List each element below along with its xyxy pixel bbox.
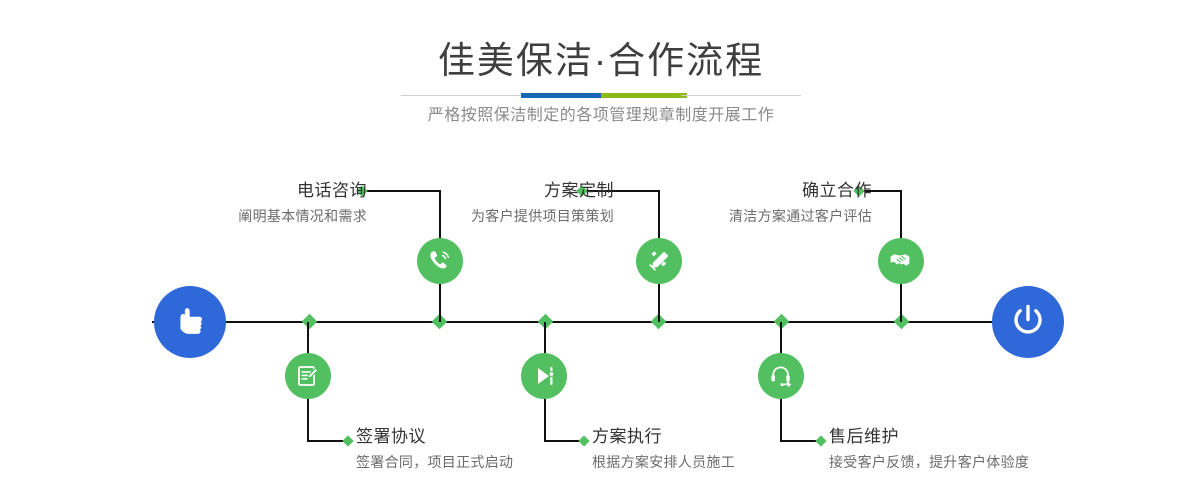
- step-4-icon-badge[interactable]: [521, 353, 567, 399]
- step-5-icon-badge[interactable]: [878, 238, 924, 284]
- power-icon: [1007, 299, 1049, 346]
- page-title: 佳美保洁·合作流程: [0, 38, 1202, 84]
- step-6-desc: 接受客户反馈，提升客户体验度: [829, 451, 1029, 473]
- timeline-axis: [152, 321, 1050, 323]
- play-execute-icon: [531, 363, 557, 389]
- step-6-connector-horizontal: [780, 440, 818, 442]
- headset-support-icon: [768, 363, 794, 389]
- step-2-desc: 签署合同，项目正式启动: [356, 451, 513, 473]
- document-sign-icon: [295, 363, 321, 389]
- step-1-connector-horizontal: [366, 190, 440, 192]
- step-4-label-marker: [578, 435, 589, 446]
- step-6-title: 售后维护: [829, 426, 1029, 448]
- step-3-icon-badge[interactable]: [636, 238, 682, 284]
- page-subtitle: 严格按照保洁制定的各项管理规章制度开展工作: [0, 104, 1202, 128]
- step-1-title: 电话咨询: [238, 180, 367, 202]
- timeline-node-1: [302, 314, 318, 330]
- step-2-label-marker: [342, 435, 353, 446]
- step-1-desc: 阐明基本情况和需求: [238, 205, 367, 227]
- divider-segment-blue: [521, 93, 601, 98]
- step-4-title: 方案执行: [592, 426, 735, 448]
- step-3-title: 方案定制: [471, 180, 614, 202]
- divider-segment-green: [601, 93, 687, 98]
- step-4-connector-horizontal: [544, 440, 581, 442]
- step-6-icon-badge[interactable]: [758, 353, 804, 399]
- step-5-text: 确立合作 清洁方案通过客户评估: [729, 180, 872, 227]
- step-1-icon-badge[interactable]: [417, 238, 463, 284]
- step-4-text: 方案执行 根据方案安排人员施工: [592, 426, 735, 473]
- timeline-end-node[interactable]: [992, 286, 1064, 358]
- pointing-hand-icon: [170, 300, 210, 345]
- step-4-desc: 根据方案安排人员施工: [592, 451, 735, 473]
- step-5-title: 确立合作: [729, 180, 872, 202]
- phone-icon: [427, 248, 453, 274]
- step-3-text: 方案定制 为客户提供项目策策划: [471, 180, 614, 227]
- step-2-title: 签署协议: [356, 426, 513, 448]
- divider-rule-left: [401, 95, 521, 96]
- process-timeline: 电话咨询 阐明基本情况和需求 签署协议 签署合同，项目正式启动: [0, 150, 1202, 502]
- step-2-icon-badge[interactable]: [285, 353, 331, 399]
- step-2-connector-horizontal: [307, 440, 345, 442]
- divider-rule-right: [681, 95, 801, 96]
- step-2-text: 签署协议 签署合同，项目正式启动: [356, 426, 513, 473]
- step-6-label-marker: [815, 435, 826, 446]
- header: 佳美保洁·合作流程 严格按照保洁制定的各项管理规章制度开展工作: [0, 0, 1202, 150]
- title-divider: [401, 93, 801, 98]
- handshake-icon: [888, 248, 914, 274]
- step-3-desc: 为客户提供项目策策划: [471, 205, 614, 227]
- timeline-start-node[interactable]: [154, 286, 226, 358]
- step-5-desc: 清洁方案通过客户评估: [729, 205, 872, 227]
- step-6-text: 售后维护 接受客户反馈，提升客户体验度: [829, 426, 1029, 473]
- step-1-text: 电话咨询 阐明基本情况和需求: [238, 180, 367, 227]
- pencil-ruler-icon: [646, 248, 672, 274]
